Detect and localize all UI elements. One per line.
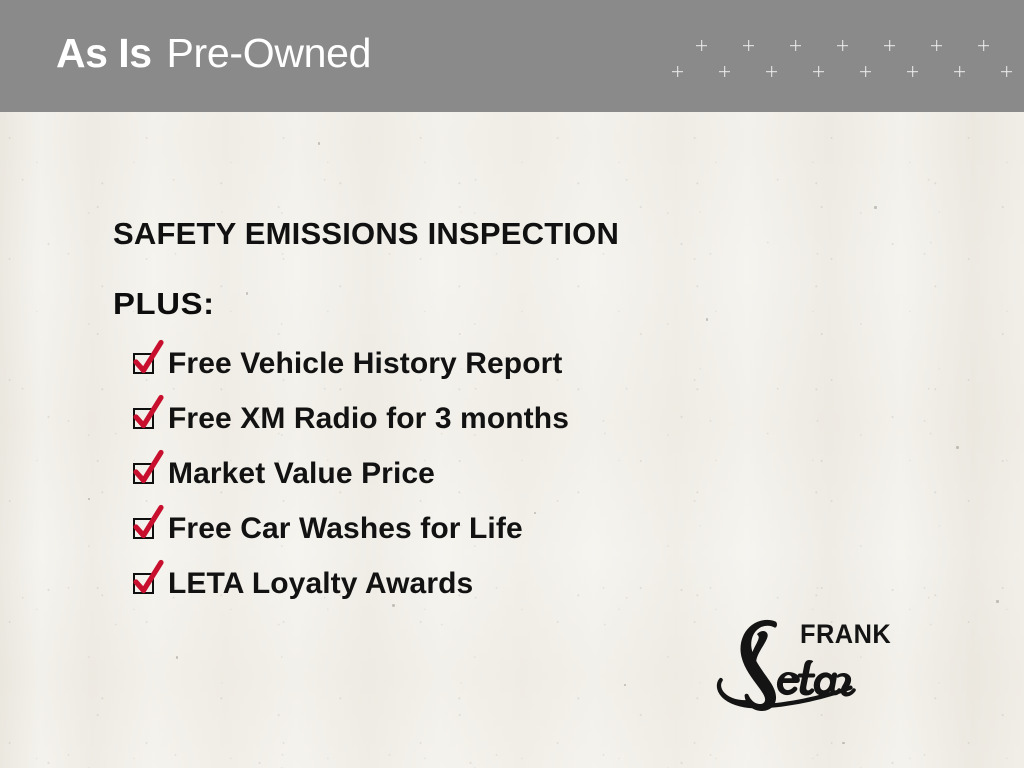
plus-icon: [860, 66, 871, 77]
plus-icon: [672, 66, 683, 77]
plus-sign-decoration: [672, 38, 1012, 94]
page-title-bold: As Is: [56, 30, 152, 76]
plus-icon: [1001, 66, 1012, 77]
page-title: As IsPre-Owned: [56, 33, 371, 74]
plus-icon: [931, 40, 942, 51]
plus-row-bottom: [672, 66, 1024, 77]
list-item: Free Car Washes for Life: [133, 501, 733, 556]
plus-icon: [907, 66, 918, 77]
checkbox-checked-icon: [133, 353, 156, 376]
plus-icon: [837, 40, 848, 51]
plus-icon: [766, 66, 777, 77]
plus-icon: [884, 40, 895, 51]
list-item-label: Free Car Washes for Life: [168, 514, 523, 544]
plus-icon: [978, 40, 989, 51]
list-item: LETA Loyalty Awards: [133, 556, 733, 611]
plus-icon: [954, 66, 965, 77]
checkbox-checked-icon: [133, 573, 156, 596]
plus-row-top: [696, 40, 1024, 51]
list-item: Free XM Radio for 3 months: [133, 391, 733, 446]
checkbox-checked-icon: [133, 518, 156, 541]
header-bar: As IsPre-Owned: [0, 0, 1024, 112]
list-item: Free Vehicle History Report: [133, 336, 733, 391]
list-item: Market Value Price: [133, 446, 733, 501]
list-item-label: Free Vehicle History Report: [168, 349, 563, 379]
benefits-checklist: Free Vehicle History Report Free XM Radi…: [133, 336, 733, 611]
slide-root: As IsPre-Owned: [0, 0, 1024, 768]
checkbox-checked-icon: [133, 463, 156, 486]
section-heading: SAFETY EMISSIONS INSPECTION: [113, 216, 619, 252]
frank-leta-logo: FRANK: [700, 608, 915, 720]
plus-icon: [790, 40, 801, 51]
plus-icon: [813, 66, 824, 77]
logo-frank-text: FRANK: [800, 619, 891, 650]
page-title-light: Pre-Owned: [167, 30, 372, 76]
list-item-label: LETA Loyalty Awards: [168, 569, 473, 599]
list-item-label: Market Value Price: [168, 459, 435, 489]
plus-icon: [719, 66, 730, 77]
checkbox-checked-icon: [133, 408, 156, 431]
list-item-label: Free XM Radio for 3 months: [168, 404, 569, 434]
plus-icon: [743, 40, 754, 51]
plus-icon: [696, 40, 707, 51]
plus-subheading: PLUS:: [113, 286, 215, 322]
